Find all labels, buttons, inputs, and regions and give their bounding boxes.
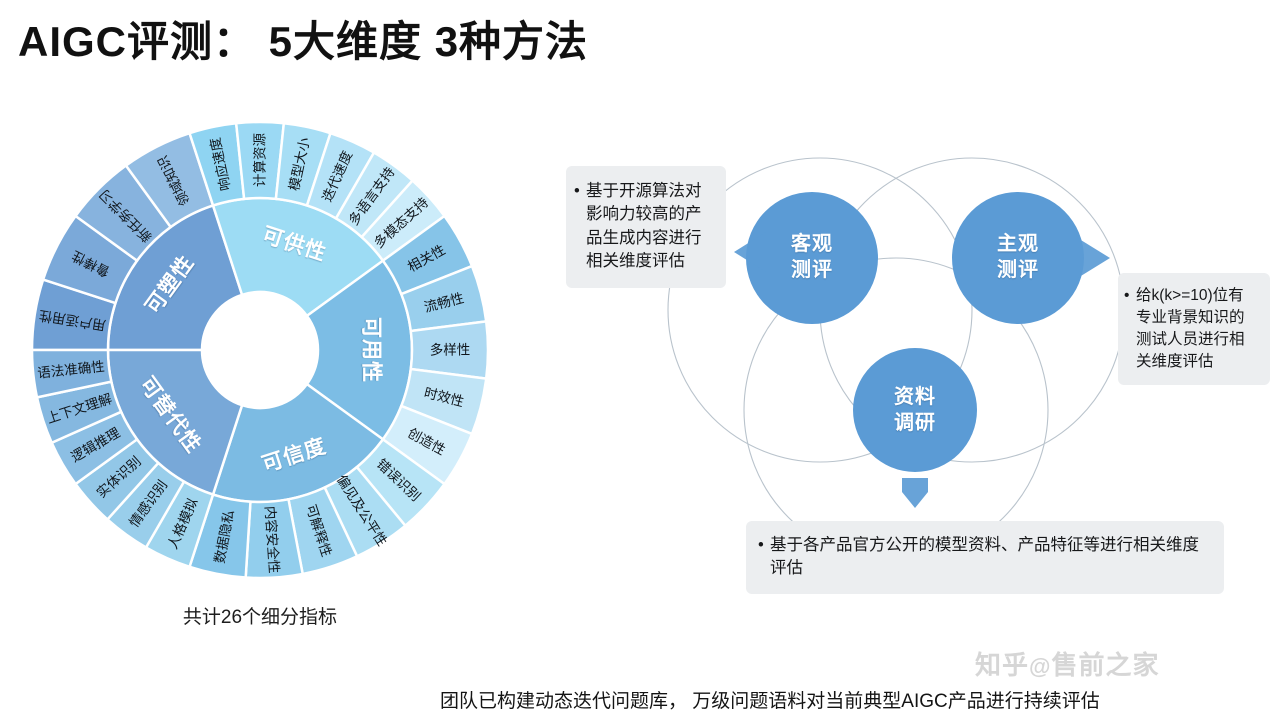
page-title: AIGC评测： 5大维度 3种方法 bbox=[18, 8, 588, 69]
objective-callout: •基于开源算法对影响力较高的产品生成内容进行相关维度评估 bbox=[566, 166, 726, 288]
wheel-indicator-label-1-1: 计算资源 bbox=[253, 133, 268, 187]
footer-note: 团队已构建动态迭代问题库， 万级问题语料对当前典型AIGC产品进行持续评估 bbox=[440, 686, 1100, 713]
watermark-name: 售前之家 bbox=[1051, 650, 1159, 680]
subjective-callout: •给k(k>=10)位有专业背景知识的测试人员进行相关维度评估 bbox=[1118, 273, 1270, 385]
slide-root: AIGC评测： 5大维度 3种方法 可塑性用户适用性鲁棒性新任务学习领域知识可供… bbox=[0, 0, 1280, 720]
watermark-prefix: 知乎 bbox=[975, 650, 1029, 680]
desk-research-callout-text: 基于各产品官方公开的模型资料、产品特征等进行相关维度评估 bbox=[770, 534, 1200, 581]
bullet-icon: • bbox=[758, 534, 770, 557]
sunburst-svg: 可塑性用户适用性鲁棒性新任务学习领域知识可供性响应速度计算资源模型大小迭代速度多… bbox=[20, 110, 500, 610]
bullet-icon: • bbox=[574, 180, 586, 203]
desk-research-callout: •基于各产品官方公开的模型资料、产品特征等进行相关维度评估 bbox=[746, 521, 1224, 594]
methods-diagram: 客观 测评 主观 测评 资料 调研 •基于开源算法对影响力较高的产品生成内容进行… bbox=[520, 110, 1280, 630]
wheel-center bbox=[204, 294, 316, 406]
subjective-callout-text: 给k(k>=10)位有专业背景知识的测试人员进行相关维度评估 bbox=[1136, 285, 1258, 373]
wheel-caption: 共计26个细分指标 bbox=[20, 602, 500, 629]
wheel-dimension-label-2: 可用性 bbox=[360, 317, 384, 383]
sunburst-wheel: 可塑性用户适用性鲁棒性新任务学习领域知识可供性响应速度计算资源模型大小迭代速度多… bbox=[20, 110, 500, 630]
wheel-indicator-label-2-2: 多样性 bbox=[430, 342, 471, 358]
at-icon: @ bbox=[1029, 654, 1051, 679]
bullet-icon: • bbox=[1124, 285, 1136, 307]
watermark: 知乎@售前之家 bbox=[975, 645, 1159, 682]
circle-desk-research[interactable] bbox=[853, 348, 977, 472]
arrow-down bbox=[902, 478, 928, 508]
objective-callout-text: 基于开源算法对影响力较高的产品生成内容进行相关维度评估 bbox=[586, 180, 706, 274]
